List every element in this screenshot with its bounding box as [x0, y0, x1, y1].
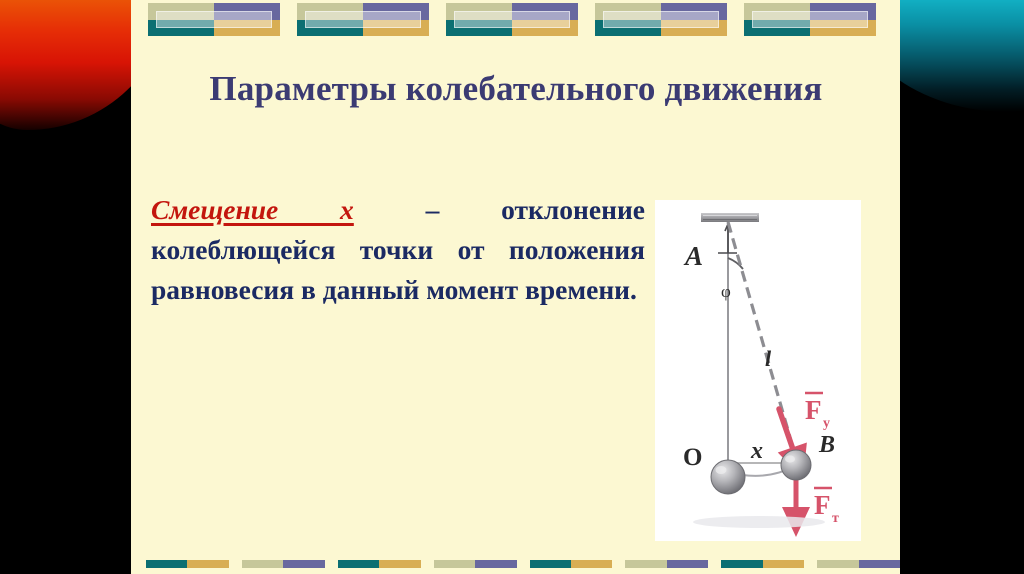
warm-swoosh-shape: [0, 0, 131, 130]
motif-inner-overlay: [156, 11, 272, 28]
bob-highlight: [716, 466, 727, 474]
pendulum-diagram: A φ l O x B F у F т: [655, 200, 861, 541]
motif-inner-overlay: [454, 11, 570, 28]
label-pivot-point: A: [683, 241, 703, 271]
slide-content-page: Параметры колебательного движения Смещен…: [131, 0, 900, 574]
page-title: Параметры колебательного движения: [169, 67, 863, 111]
pendulum-figure-panel: A φ l O x B F у F т: [655, 200, 861, 541]
band-motif: [595, 3, 727, 36]
label-force-gravity-letter: F: [814, 490, 831, 520]
label-force-gravity-subscript: т: [832, 511, 839, 526]
bob-at-equilibrium: [711, 460, 745, 494]
motif-inner-overlay: [752, 11, 868, 28]
band-dash: [242, 560, 325, 568]
band-dash: [338, 560, 421, 568]
motif-inner-overlay: [603, 11, 719, 28]
label-force-tangential-subscript: у: [823, 416, 830, 431]
right-decorative-edge: [900, 0, 1024, 574]
bottom-decorative-band: [131, 560, 900, 568]
band-motif: [297, 3, 429, 36]
band-dash: [721, 560, 804, 568]
bob-displaced-highlight: [785, 455, 795, 462]
band-dash: [530, 560, 613, 568]
band-dash: [817, 560, 900, 568]
top-decorative-band: [131, 3, 900, 36]
band-motif: [148, 3, 280, 36]
left-decorative-edge: [0, 0, 131, 574]
slide-root: Параметры колебательного движения Смещен…: [0, 0, 1024, 574]
label-angle-phi: φ: [721, 282, 731, 301]
band-dash: [146, 560, 229, 568]
label-bob-b: B: [818, 432, 835, 458]
bob-displaced: [781, 450, 811, 480]
definition-term: Смещение х: [151, 194, 364, 225]
label-force-tangential: F у: [805, 393, 830, 431]
band-dash: [434, 560, 517, 568]
ground-shadow: [693, 516, 825, 528]
ceiling-support: [701, 213, 759, 222]
cool-swoosh-shape: [900, 0, 1024, 112]
motif-inner-overlay: [305, 11, 421, 28]
label-string-length: l: [765, 346, 772, 371]
band-dash: [625, 560, 708, 568]
label-origin: O: [683, 444, 702, 471]
label-force-tangential-letter: F: [805, 395, 822, 425]
label-displacement-x: x: [750, 438, 763, 464]
band-motif: [744, 3, 876, 36]
definition-paragraph: Смещение х – отклонение колеблющейся точ…: [151, 190, 645, 311]
band-motif: [446, 3, 578, 36]
